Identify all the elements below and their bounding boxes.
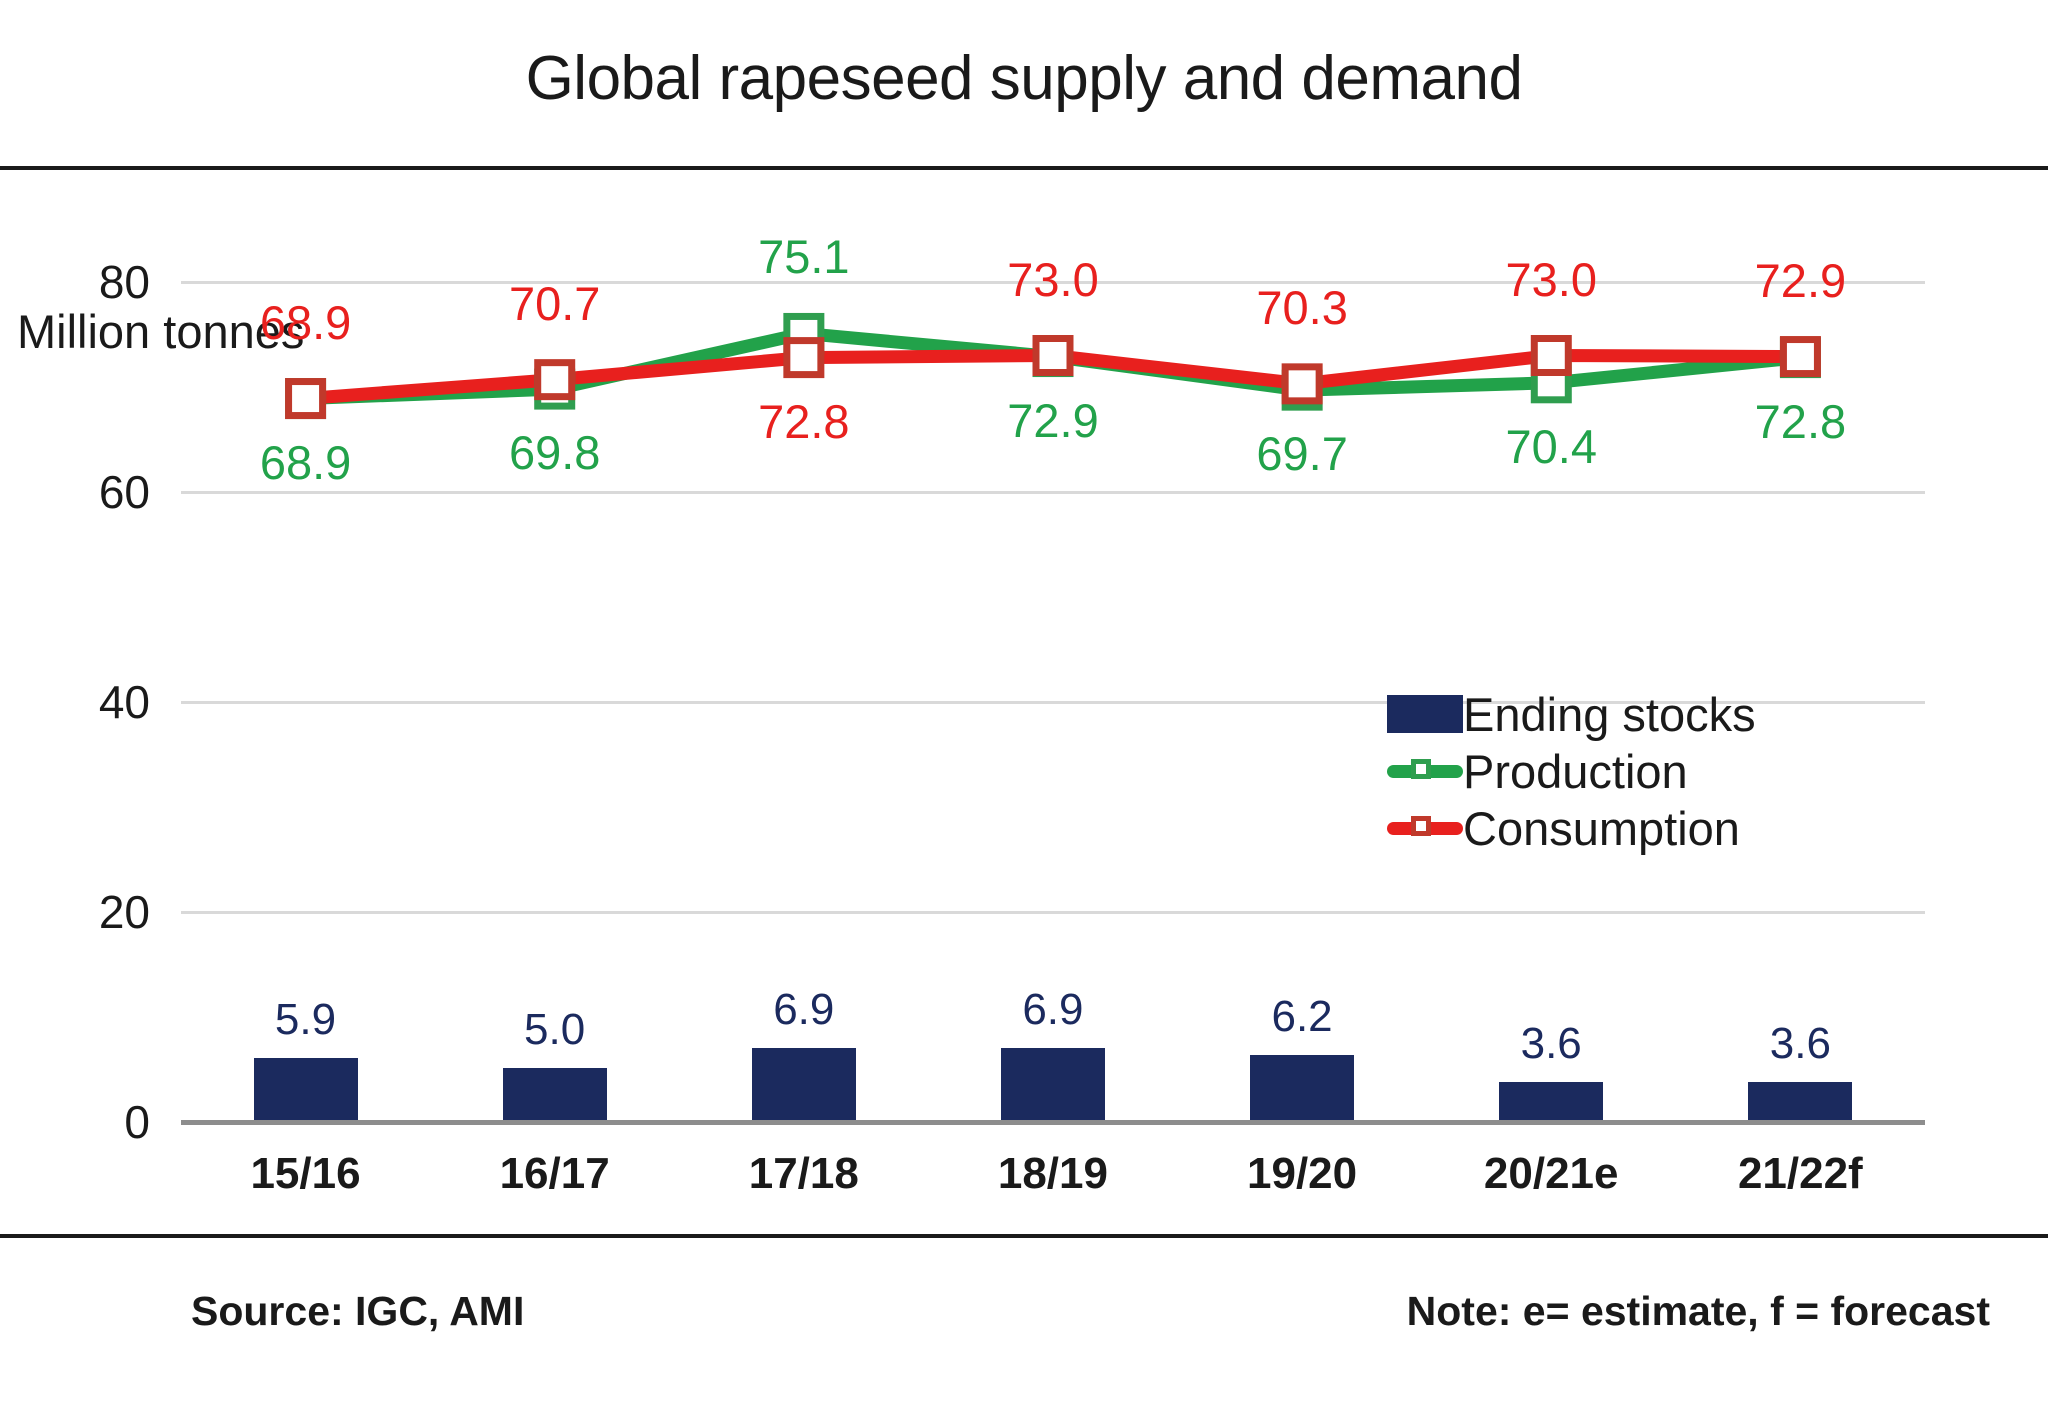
marker-consumption-20-21e bbox=[1534, 339, 1568, 373]
marker-consumption-21-22f bbox=[1783, 340, 1817, 374]
legend-item-consumption[interactable]: Consumption bbox=[1387, 800, 1740, 856]
point-label-production-16-17: 69.8 bbox=[455, 429, 655, 476]
bar-value-label-17-18: 6.9 bbox=[679, 988, 928, 1032]
x-tick-label-15-16: 15/16 bbox=[181, 1152, 430, 1196]
footer-divider bbox=[0, 1234, 2048, 1238]
x-tick-label-19-20: 19/20 bbox=[1178, 1152, 1427, 1196]
chart-page: Global rapeseed supply and demand Millio… bbox=[0, 0, 2048, 1403]
bar-value-label-20-21e: 3.6 bbox=[1427, 1022, 1676, 1066]
marker-consumption-19-20 bbox=[1285, 367, 1319, 401]
point-label-production-19-20: 69.7 bbox=[1202, 430, 1402, 477]
y-tick-label-20: 20 bbox=[0, 889, 150, 935]
y-tick-label-40: 40 bbox=[0, 679, 150, 725]
x-tick-label-17-18: 17/18 bbox=[679, 1152, 928, 1196]
legend-line-marker-icon bbox=[1387, 752, 1463, 790]
bar-value-label-21-22f: 3.6 bbox=[1676, 1022, 1925, 1066]
legend-bar-swatch-icon bbox=[1387, 695, 1463, 733]
legend-square-marker bbox=[1411, 759, 1431, 779]
x-tick-label-16-17: 16/17 bbox=[430, 1152, 679, 1196]
source-note: Source: IGC, AMI bbox=[191, 1291, 524, 1332]
bar-value-label-18-19: 6.9 bbox=[928, 988, 1177, 1032]
point-label-consumption-18-19: 73.0 bbox=[953, 256, 1153, 303]
y-tick-label-0: 0 bbox=[0, 1099, 150, 1145]
x-tick-label-20-21e: 20/21e bbox=[1427, 1152, 1676, 1196]
legend-line-marker-icon bbox=[1387, 809, 1463, 847]
y-tick-label-60: 60 bbox=[0, 469, 150, 515]
point-label-consumption-21-22f: 72.9 bbox=[1700, 257, 1900, 304]
legend-item-label: Ending stocks bbox=[1463, 691, 1756, 738]
x-tick-label-18-19: 18/19 bbox=[928, 1152, 1177, 1196]
legend-square-marker bbox=[1411, 816, 1431, 836]
marker-consumption-18-19 bbox=[1036, 339, 1070, 373]
point-label-consumption-17-18: 72.8 bbox=[704, 398, 904, 445]
bar-value-label-16-17: 5.0 bbox=[430, 1008, 679, 1052]
legend-item-label: Consumption bbox=[1463, 805, 1740, 852]
page-title: Global rapeseed supply and demand bbox=[0, 46, 2048, 111]
point-label-consumption-19-20: 70.3 bbox=[1202, 284, 1402, 331]
legend-item-label: Production bbox=[1463, 748, 1688, 795]
point-label-production-15-16: 68.9 bbox=[206, 439, 406, 486]
point-label-consumption-16-17: 70.7 bbox=[455, 280, 655, 327]
legend-item-ending-stocks[interactable]: Ending stocks bbox=[1387, 686, 1756, 742]
point-label-consumption-15-16: 68.9 bbox=[206, 299, 406, 346]
y-tick-label-80: 80 bbox=[0, 259, 150, 305]
marker-consumption-16-17 bbox=[538, 363, 572, 397]
forecast-note: Note: e= estimate, f = forecast bbox=[1407, 1291, 1990, 1332]
point-label-production-20-21e: 70.4 bbox=[1451, 423, 1651, 470]
point-label-production-21-22f: 72.8 bbox=[1700, 398, 1900, 445]
bar-value-label-15-16: 5.9 bbox=[181, 998, 430, 1042]
marker-consumption-15-16 bbox=[289, 382, 323, 416]
marker-consumption-17-18 bbox=[787, 341, 821, 375]
legend-item-production[interactable]: Production bbox=[1387, 743, 1688, 799]
point-label-consumption-20-21e: 73.0 bbox=[1451, 256, 1651, 303]
point-label-production-17-18: 75.1 bbox=[704, 233, 904, 280]
bar-value-label-19-20: 6.2 bbox=[1178, 995, 1427, 1039]
x-tick-label-21-22f: 21/22f bbox=[1676, 1152, 1925, 1196]
header-divider bbox=[0, 166, 2048, 170]
point-label-production-18-19: 72.9 bbox=[953, 397, 1153, 444]
